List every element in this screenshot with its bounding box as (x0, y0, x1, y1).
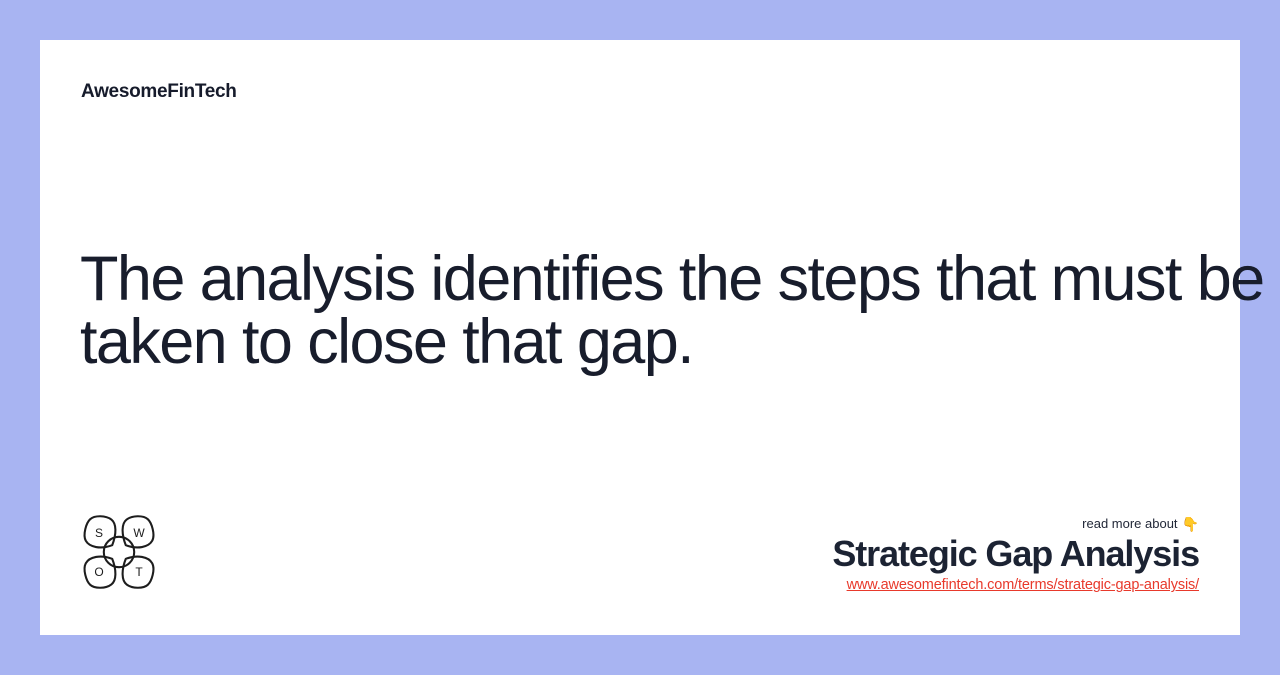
promo-kicker-text: read more about (1082, 516, 1177, 531)
petal-label-s: S (95, 526, 103, 540)
slide-canvas: AwesomeFinTech The analysis identifies t… (0, 0, 1280, 675)
brand-logotype: AwesomeFinTech (81, 82, 237, 101)
headline: The analysis identifies the steps that m… (80, 248, 1200, 374)
content-card: AwesomeFinTech The analysis identifies t… (40, 40, 1240, 635)
pointing-down-icon: 👇 (1182, 516, 1199, 532)
headline-line-2: taken to close that gap. (80, 311, 1200, 374)
swot-flower-svg: S W O T (79, 512, 159, 592)
petal-label-w: W (133, 526, 145, 540)
petal-label-t: T (135, 565, 143, 579)
flower-center (104, 537, 134, 567)
promo-kicker: read more about👇 (832, 517, 1199, 532)
promo-block: read more about👇 Strategic Gap Analysis … (832, 517, 1199, 596)
swot-flower-icon: S W O T (79, 512, 159, 592)
petal-label-o: O (94, 565, 103, 579)
headline-line-1: The analysis identifies the steps that m… (80, 248, 1200, 311)
card-footer: S W O T read more about👇 Strategic Gap A… (40, 495, 1240, 635)
promo-url-link[interactable]: www.awesomefintech.com/terms/strategic-g… (847, 576, 1199, 596)
promo-title: Strategic Gap Analysis (832, 534, 1199, 574)
